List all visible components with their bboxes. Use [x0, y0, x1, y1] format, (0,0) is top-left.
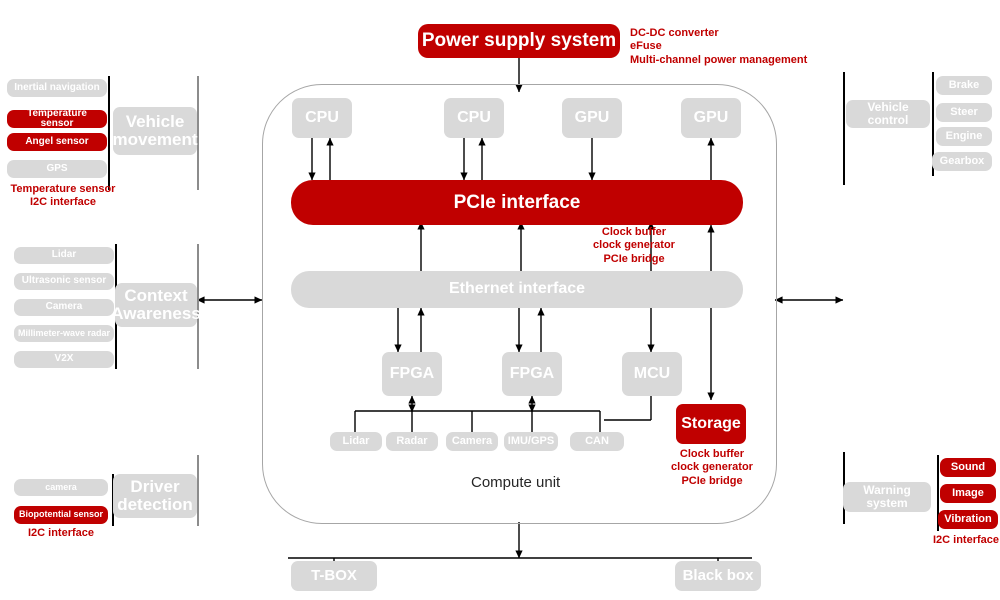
left-group-1-bracket: [108, 76, 110, 190]
left-item-lidar[interactable]: Lidar: [14, 247, 114, 264]
io-box-imu-gps[interactable]: IMU/GPS: [504, 432, 558, 451]
right-item-steer[interactable]: Steer: [936, 103, 992, 122]
right-item-vibration[interactable]: Vibration: [938, 510, 998, 529]
storage-box[interactable]: Storage: [676, 404, 746, 444]
bottom-item-tbox[interactable]: T-BOX: [291, 561, 377, 591]
left-item-ultrasonic-sensor[interactable]: Ultrasonic sensor: [14, 273, 114, 290]
logic-fpga-1[interactable]: FPGA: [382, 352, 442, 396]
left-item-driver-camera[interactable]: camera: [14, 479, 108, 496]
pcie-clock-note: Clock buffer clock generator PCIe bridge: [546, 226, 722, 266]
io-box-can[interactable]: CAN: [570, 432, 624, 451]
logic-mcu[interactable]: MCU: [622, 352, 682, 396]
right-group-2-note: I2C interface: [930, 534, 1000, 547]
logic-fpga-2[interactable]: FPGA: [502, 352, 562, 396]
left-item-camera[interactable]: Camera: [14, 299, 114, 316]
pcie-interface-bar[interactable]: PCIe interface: [291, 180, 743, 225]
left-item-millimeter-wave-radar[interactable]: Millimeter-wave radar: [14, 325, 114, 342]
right-item-gearbox[interactable]: Gearbox: [932, 152, 992, 171]
left-group-3-note: I2C interface: [9, 527, 113, 540]
compute-unit-label: Compute unit: [471, 474, 560, 491]
right-item-sound[interactable]: Sound: [940, 458, 996, 477]
processor-cpu-2[interactable]: CPU: [444, 98, 504, 138]
io-box-radar[interactable]: Radar: [386, 432, 438, 451]
right-group-1-title: Vehicle control: [846, 100, 930, 128]
left-item-inertial-navigation[interactable]: Inertial navigation: [7, 79, 107, 97]
processor-gpu-1[interactable]: GPU: [562, 98, 622, 138]
left-item-angel-sensor[interactable]: Angel sensor: [7, 133, 107, 151]
left-group-1-title: Vehicle movement: [113, 107, 197, 155]
left-item-temperature-sensor[interactable]: Temperature sensor: [7, 110, 107, 128]
left-item-v2x[interactable]: V2X: [14, 351, 114, 368]
bottom-item-black-box[interactable]: Black box: [675, 561, 761, 591]
right-item-brake[interactable]: Brake: [936, 76, 992, 95]
ethernet-interface-bar[interactable]: Ethernet interface: [291, 271, 743, 308]
power-supply-system-box[interactable]: Power supply system: [418, 24, 620, 58]
left-item-gps[interactable]: GPS: [7, 160, 107, 178]
processor-gpu-2[interactable]: GPU: [681, 98, 741, 138]
right-spine-top: [843, 72, 845, 185]
io-box-camera[interactable]: Camera: [446, 432, 498, 451]
processor-cpu-1[interactable]: CPU: [292, 98, 352, 138]
storage-clock-note: Clock buffer clock generator PCIe bridge: [653, 448, 771, 488]
left-group-1-note: Temperature sensor I2C interface: [5, 183, 121, 210]
power-supply-note: DC-DC converter eFuse Multi-channel powe…: [630, 27, 807, 67]
left-item-biopotential-sensor[interactable]: Biopotential sensor: [14, 506, 108, 524]
right-item-image[interactable]: Image: [940, 484, 996, 503]
diagram-canvas: Compute unit Power supply system DC-DC c…: [0, 0, 1000, 600]
io-box-lidar[interactable]: Lidar: [330, 432, 382, 451]
left-spine-bottom: [197, 455, 199, 526]
right-group-2-title: Warning system: [843, 482, 931, 512]
left-group-2-title: Context Awareness: [115, 283, 197, 327]
right-item-engine[interactable]: Engine: [936, 127, 992, 146]
left-group-3-title: Driver detection: [113, 474, 197, 518]
